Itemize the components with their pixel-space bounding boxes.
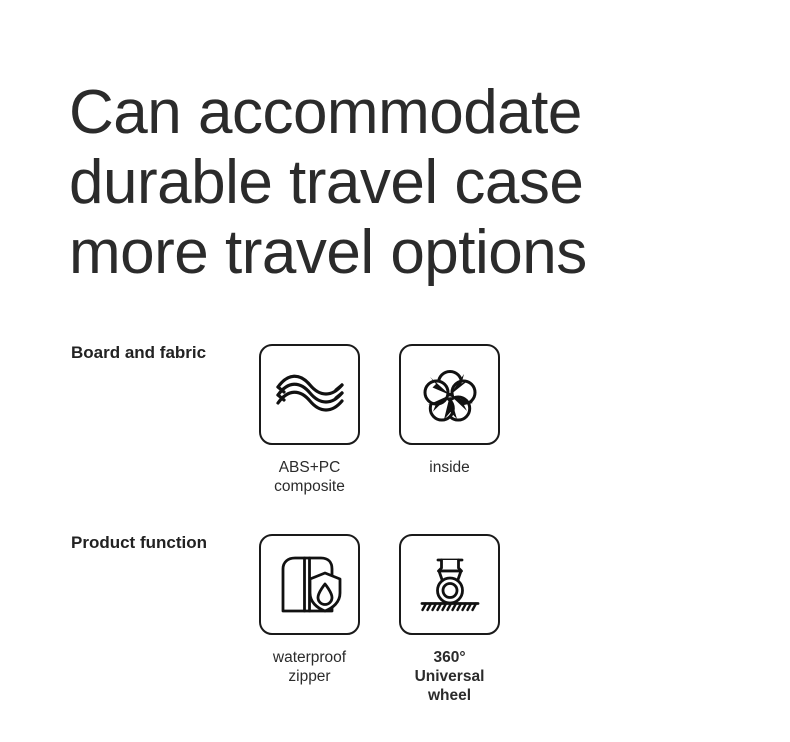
wavy-layers-icon [274,367,346,423]
card-group-board-and-fabric: ABS+PC composite [259,344,500,496]
icon-box-waterproof-zipper [259,534,360,635]
icon-box-universal-wheel [399,534,500,635]
waterproof-zipper-icon [277,553,343,617]
feature-card-universal-wheel[interactable]: 360° Universal wheel [399,534,500,705]
feature-card-waterproof-zipper[interactable]: waterproof zipper [259,534,360,705]
page-title: Can accommodate durable travel case more… [69,78,709,288]
feature-row-board-and-fabric: Board and fabric [0,330,790,520]
section-label-board-and-fabric: Board and fabric [71,343,206,363]
universal-wheel-icon [414,554,486,616]
section-label-product-function: Product function [71,533,207,553]
icon-box-inside [399,344,500,445]
feature-card-abs-pc-composite[interactable]: ABS+PC composite [259,344,360,496]
caption-universal-wheel: 360° Universal wheel [399,648,500,705]
caption-inside: inside [429,458,470,477]
feature-row-product-function: Product function waterproof zi [0,520,790,710]
cotton-boll-icon [420,365,480,425]
caption-waterproof-zipper: waterproof zipper [273,648,346,686]
caption-abs-pc-composite: ABS+PC composite [274,458,345,496]
feature-card-inside[interactable]: inside [399,344,500,496]
card-group-product-function: waterproof zipper [259,534,500,705]
icon-box-abs-pc-composite [259,344,360,445]
feature-sections: Board and fabric [0,330,790,710]
